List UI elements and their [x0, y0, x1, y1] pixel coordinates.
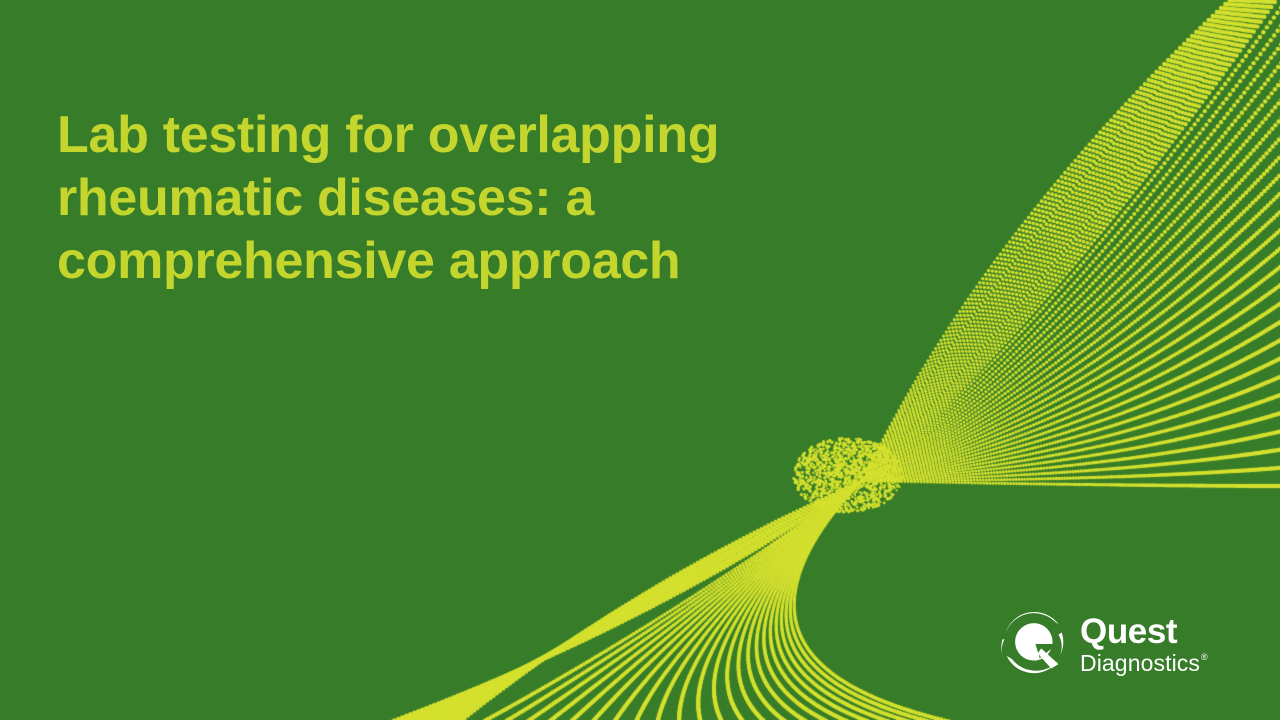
registered-trademark-icon: ®	[1201, 653, 1208, 662]
logo-brand-text: Quest	[1080, 614, 1208, 649]
title-block: Lab testing for overlapping rheumatic di…	[57, 104, 847, 293]
presentation-slide: Lab testing for overlapping rheumatic di…	[0, 0, 1280, 720]
quest-diagnostics-logo: Quest Diagnostics ®	[998, 606, 1228, 682]
page-title: Lab testing for overlapping rheumatic di…	[57, 104, 847, 293]
quest-q-swirl-mark	[998, 608, 1070, 680]
logo-wordmark: Quest Diagnostics ®	[1080, 614, 1208, 675]
logo-subbrand-text: Diagnostics	[1080, 652, 1200, 675]
logo-subbrand-row: Diagnostics ®	[1080, 652, 1208, 675]
